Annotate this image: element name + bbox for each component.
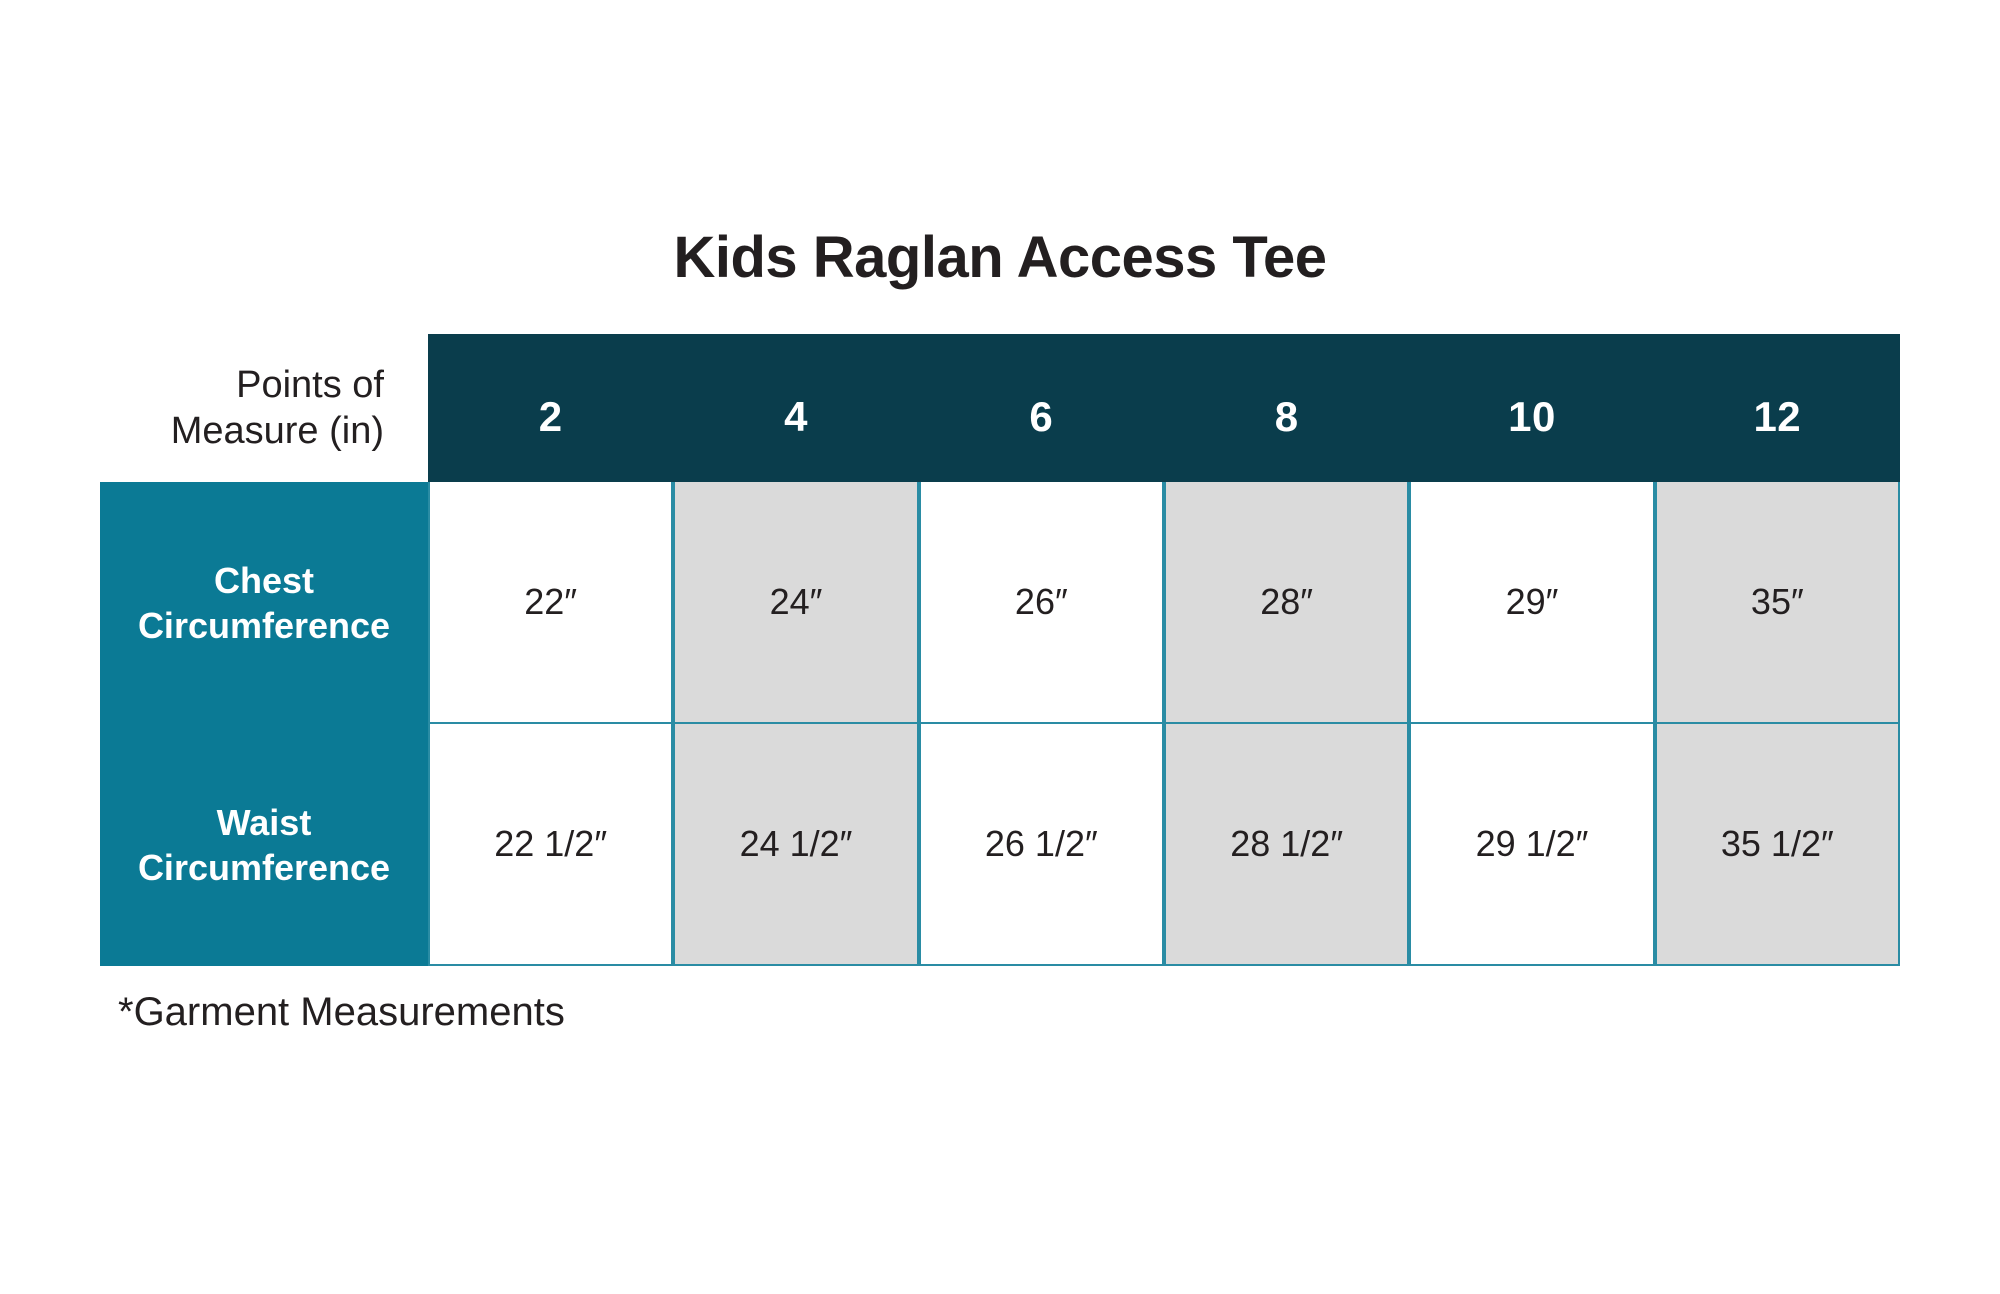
points-of-measure-text: Points of Measure (in) [100, 362, 384, 455]
size-chart-page: Kids Raglan Access Tee Points of Measure… [0, 0, 2000, 1294]
size-header-2: 2 [428, 334, 673, 482]
row-label-chest-line2: Circumference [138, 603, 390, 648]
cell-waist-size-2: 22 1/2″ [428, 724, 673, 966]
cell-waist-size-4: 24 1/2″ [673, 724, 918, 966]
cell-waist-size-10: 29 1/2″ [1409, 724, 1654, 966]
page-title: Kids Raglan Access Tee [0, 224, 2000, 291]
cell-chest-size-2: 22″ [428, 482, 673, 724]
cell-chest-size-8: 28″ [1164, 482, 1409, 724]
garment-measurements-footnote: *Garment Measurements [118, 990, 565, 1035]
cell-waist-size-12: 35 1/2″ [1655, 724, 1900, 966]
size-header-4: 4 [673, 334, 918, 482]
cell-chest-size-4: 24″ [673, 482, 918, 724]
size-header-6: 6 [919, 334, 1164, 482]
size-header-8: 8 [1164, 334, 1409, 482]
row-label-waist-line2: Circumference [138, 845, 390, 890]
size-chart-table: Points of Measure (in) 2 4 6 8 10 12 Che… [100, 334, 1900, 966]
cell-chest-size-12: 35″ [1655, 482, 1900, 724]
cell-chest-size-6: 26″ [919, 482, 1164, 724]
size-header-12: 12 [1655, 334, 1900, 482]
cell-chest-size-10: 29″ [1409, 482, 1654, 724]
row-label-chest-line1: Chest [138, 558, 390, 603]
cell-waist-size-8: 28 1/2″ [1164, 724, 1409, 966]
row-label-waist-circumference: Waist Circumference [100, 724, 428, 966]
cell-waist-size-6: 26 1/2″ [919, 724, 1164, 966]
row-label-waist-line1: Waist [138, 800, 390, 845]
size-chart-grid: Points of Measure (in) 2 4 6 8 10 12 Che… [100, 334, 1900, 966]
points-of-measure-label: Points of Measure (in) [100, 334, 428, 482]
size-header-10: 10 [1409, 334, 1654, 482]
row-label-chest-circumference: Chest Circumference [100, 482, 428, 724]
